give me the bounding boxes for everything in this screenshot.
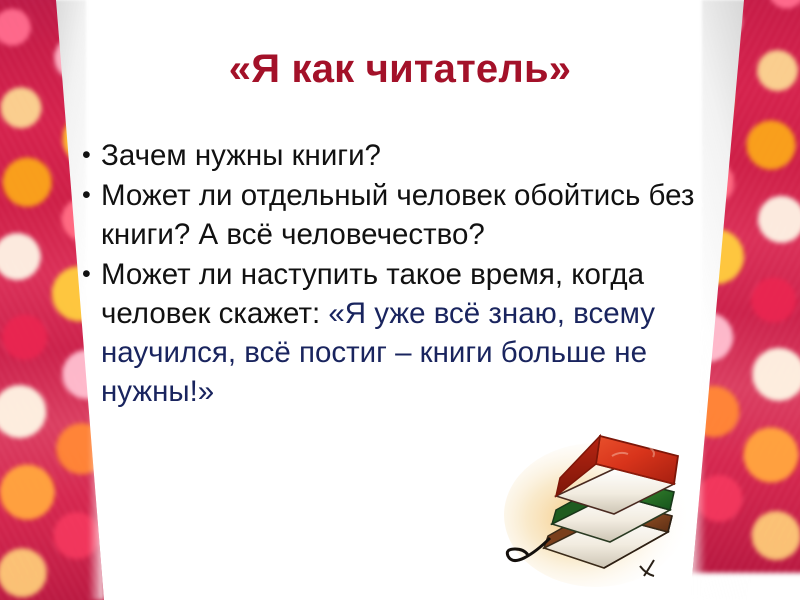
- bullet-marker-icon: •: [82, 177, 101, 215]
- stack-of-books-icon: [500, 420, 735, 600]
- slide-body-list: • Зачем нужны книги? • Может ли отдельны…: [82, 137, 754, 413]
- list-item-text: Может ли наступить такое время, когда че…: [101, 256, 754, 412]
- list-item-text: Может ли отдельный человек обойтись без …: [101, 177, 754, 255]
- bullet-marker-icon: •: [82, 137, 101, 175]
- presentation-slide: «Я как читатель» • Зачем нужны книги? • …: [0, 0, 800, 600]
- bullet-marker-icon: •: [82, 256, 101, 294]
- slide-title: «Я как читатель»: [0, 47, 800, 92]
- stack-of-books-illustration: [500, 420, 735, 600]
- list-item: • Может ли наступить такое время, когда …: [82, 256, 754, 412]
- list-item: • Может ли отдельный человек обойтись бе…: [82, 177, 754, 255]
- list-item: • Зачем нужны книги?: [82, 137, 754, 176]
- list-item-text: Зачем нужны книги?: [101, 137, 754, 176]
